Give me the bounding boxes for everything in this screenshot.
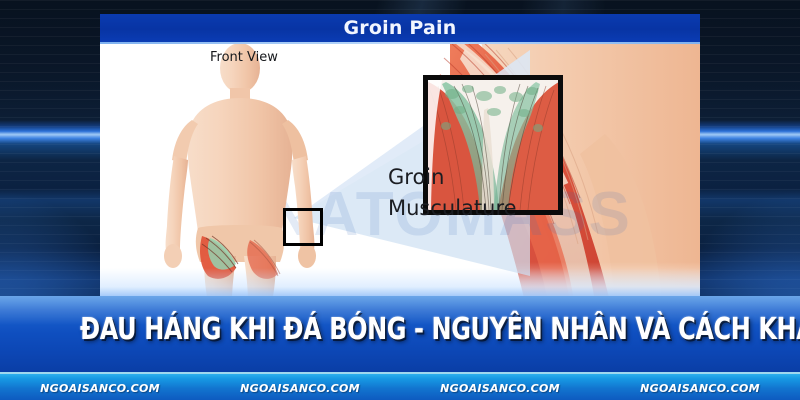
page-title: ĐAU HÁNG KHI ĐÁ BÓNG - NGUYÊN NHÂN VÀ CÁ… bbox=[80, 312, 720, 347]
footer-site-3[interactable]: NGOAISANCO.COM bbox=[400, 382, 600, 395]
roi-box-groin-region bbox=[283, 208, 323, 246]
illustration-card: ANATOMASS bbox=[100, 14, 700, 302]
footer-bar: NGOAISANCO.COM NGOAISANCO.COM NGOAISANCO… bbox=[0, 372, 800, 400]
footer-site-2[interactable]: NGOAISANCO.COM bbox=[200, 382, 400, 395]
footer-site-1[interactable]: NGOAISANCO.COM bbox=[0, 382, 200, 395]
groin-pain-banner: Groin Pain bbox=[100, 14, 700, 42]
banner-underline bbox=[100, 42, 700, 44]
callout-line-2: Musculature bbox=[388, 193, 517, 224]
callout-line-1: Groin bbox=[388, 162, 517, 193]
groin-musculature-callout: Groin Musculature bbox=[388, 162, 517, 224]
front-view-label: Front View bbox=[210, 50, 278, 65]
headline-band: ĐAU HÁNG KHI ĐÁ BÓNG - NGUYÊN NHÂN VÀ CÁ… bbox=[0, 296, 800, 372]
poster-canvas: ANATOMASS bbox=[0, 0, 800, 400]
banner-title: Groin Pain bbox=[344, 17, 457, 39]
footer-site-4[interactable]: NGOAISANCO.COM bbox=[600, 382, 800, 395]
footer-row: NGOAISANCO.COM NGOAISANCO.COM NGOAISANCO… bbox=[0, 374, 800, 400]
front-view-body-figure bbox=[130, 40, 350, 302]
